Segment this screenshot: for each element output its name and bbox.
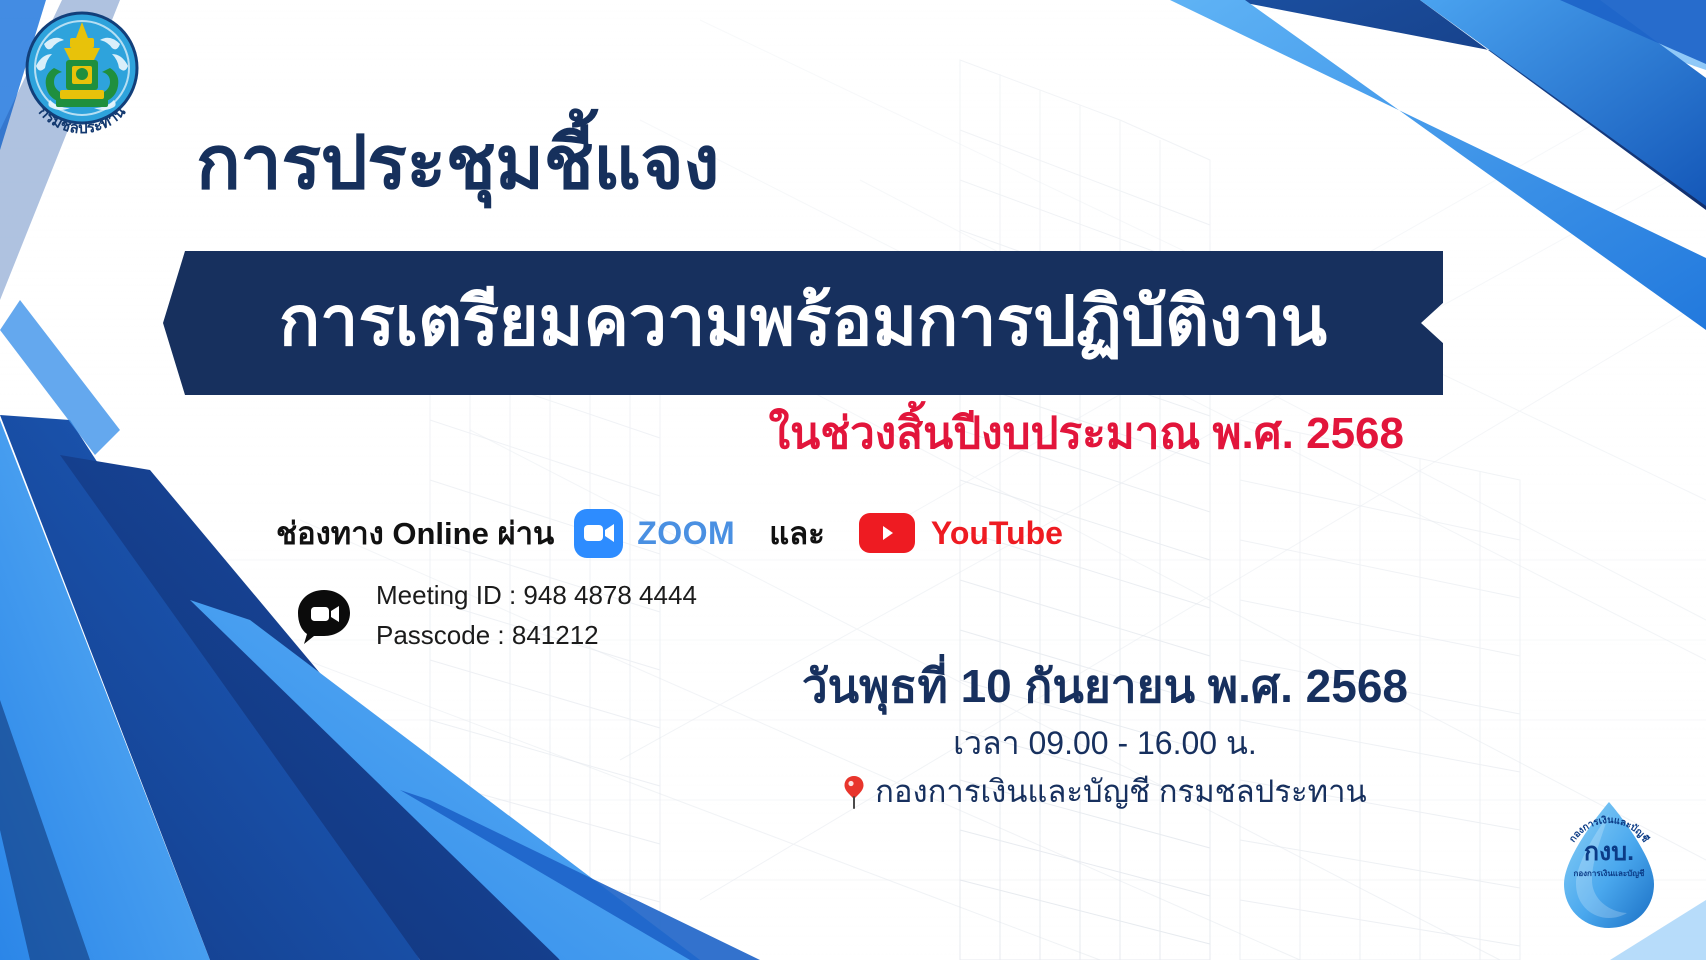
youtube-label: YouTube: [931, 515, 1063, 552]
banner-title-text: การเตรียมความพร้อมการปฏิบัติงาน: [163, 288, 1443, 356]
zoom-label: ZOOM: [637, 515, 735, 552]
banner-title-block: การเตรียมความพร้อมการปฏิบัติงาน: [163, 251, 1443, 395]
finance-division-logo: กองการเงินและบัญชี กงบ. กองการเงินและบัญ…: [1540, 792, 1678, 938]
event-place: กองการเงินและบัญชี กรมชลประทาน: [875, 769, 1367, 816]
royal-irrigation-department-emblem: กรมชลประทาน: [14, 8, 150, 144]
event-place-row: กองการเงินและบัญชี กรมชลประทาน: [802, 769, 1408, 816]
meeting-passcode-line: Passcode : 841212: [376, 616, 697, 656]
event-details: วันพุธที่ 10 กันยายน พ.ศ. 2568 เวลา 09.0…: [802, 660, 1408, 815]
online-channel-row: ช่องทาง Online ผ่าน ZOOM และ YouTube: [276, 508, 1063, 558]
meeting-credentials: Meeting ID : 948 4878 4444 Passcode : 84…: [296, 576, 697, 655]
meeting-id-line: Meeting ID : 948 4878 4444: [376, 576, 697, 616]
page-title: การประชุมชี้แจง: [196, 126, 719, 200]
finance-division-abbr: กงบ.: [1540, 840, 1678, 865]
channel-label: ช่องทาง Online ผ่าน: [276, 508, 554, 558]
zoom-chat-bubble-icon: [296, 588, 352, 644]
conjunction-label: และ: [769, 508, 825, 558]
finance-division-name: กองการเงินและบัญชี: [1540, 870, 1678, 878]
event-date: วันพุธที่ 10 กันยายน พ.ศ. 2568: [802, 660, 1408, 713]
location-pin-icon: [843, 775, 865, 809]
meeting-text-lines: Meeting ID : 948 4878 4444 Passcode : 84…: [376, 576, 697, 655]
zoom-icon[interactable]: [574, 509, 623, 558]
youtube-icon[interactable]: [859, 513, 915, 553]
poster-canvas: กรมชลประทาน การประชุมชี้แจง การเตรียมควา…: [0, 0, 1706, 960]
subtitle-fiscal-year: ในช่วงสิ้นปีงบประมาณ พ.ศ. 2568: [769, 412, 1404, 456]
event-time: เวลา 09.00 - 16.00 น.: [802, 719, 1408, 767]
